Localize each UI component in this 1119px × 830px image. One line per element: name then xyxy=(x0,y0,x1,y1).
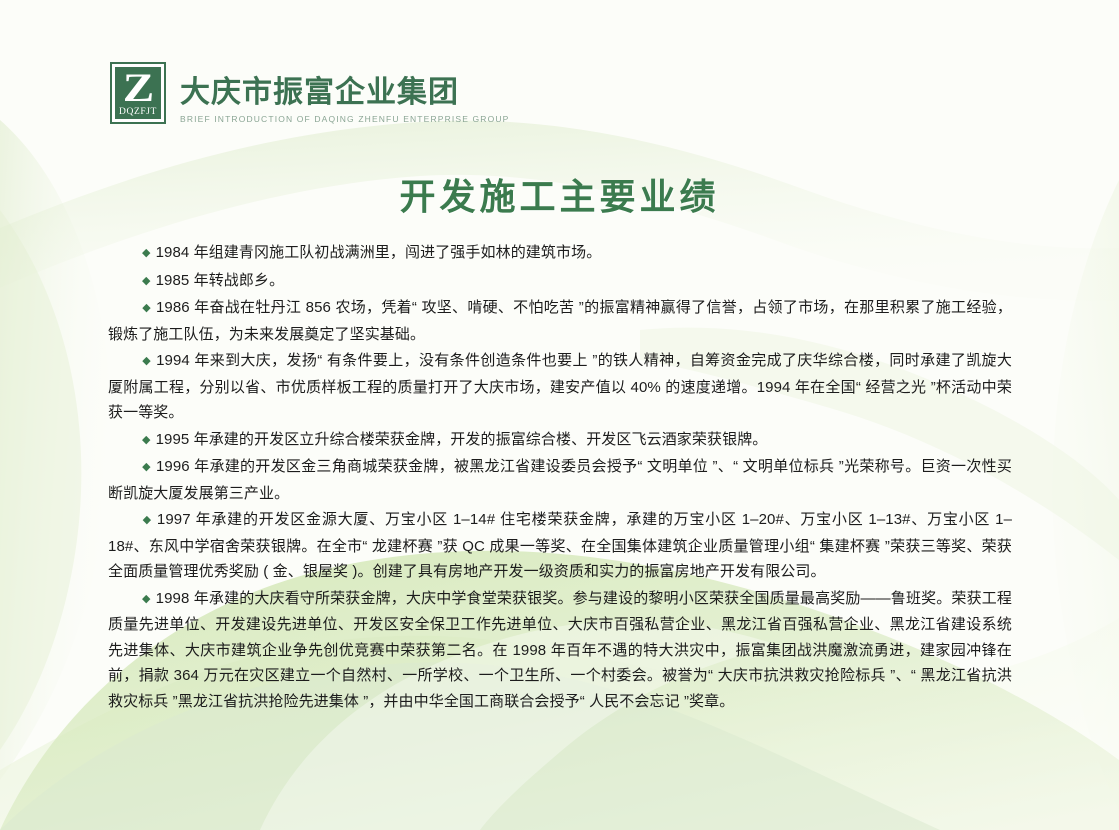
paragraph-text: 1998 年承建的大庆看守所荣获金牌，大庆中学食堂荣获银奖。参与建设的黎明小区荣… xyxy=(108,590,1012,710)
diamond-bullet-icon: ◆ xyxy=(142,355,151,367)
achievement-paragraph: ◆1998 年承建的大庆看守所荣获金牌，大庆中学食堂荣获银奖。参与建设的黎明小区… xyxy=(108,586,1012,715)
paragraph-text: 1997 年承建的开发区金源大厦、万宝小区 1–14# 住宅楼荣获金牌，承建的万… xyxy=(108,511,1012,580)
achievement-paragraph: ◆1995 年承建的开发区立升综合楼荣获金牌，开发的振富综合楼、开发区飞云酒家荣… xyxy=(108,427,1012,454)
diamond-bullet-icon: ◆ xyxy=(142,302,151,314)
paragraph-text: 1994 年来到大庆，发扬“ 有条件要上，没有条件创造条件也要上 ”的铁人精神，… xyxy=(108,352,1012,421)
diamond-bullet-icon: ◆ xyxy=(142,514,152,526)
achievement-paragraph: ◆1986 年奋战在牡丹江 856 农场，凭着“ 攻坚、啃硬、不怕吃苦 ”的振富… xyxy=(108,295,1012,347)
diamond-bullet-icon: ◆ xyxy=(142,593,151,605)
paragraph-text: 1984 年组建青冈施工队初战满洲里，闯进了强手如林的建筑市场。 xyxy=(156,244,602,261)
achievement-paragraph: ◆1985 年转战郎乡。 xyxy=(108,268,1012,295)
company-logo-icon: Z DQZFJT xyxy=(110,62,166,124)
achievement-paragraph: ◆1984 年组建青冈施工队初战满洲里，闯进了强手如林的建筑市场。 xyxy=(108,240,1012,267)
paragraph-text: 1986 年奋战在牡丹江 856 农场，凭着“ 攻坚、啃硬、不怕吃苦 ”的振富精… xyxy=(108,299,1012,343)
diamond-bullet-icon: ◆ xyxy=(142,434,151,446)
diamond-bullet-icon: ◆ xyxy=(142,275,151,287)
paragraph-text: 1996 年承建的开发区金三角商城荣获金牌，被黑龙江省建设委员会授予“ 文明单位… xyxy=(108,458,1012,502)
paragraph-text: 1985 年转战郎乡。 xyxy=(156,272,285,289)
logo-letter: Z xyxy=(123,69,153,107)
slide-page: Z DQZFJT 大庆市振富企业集团 BRIEF INTRODUCTION OF… xyxy=(0,0,1119,830)
diamond-bullet-icon: ◆ xyxy=(142,461,151,473)
diamond-bullet-icon: ◆ xyxy=(142,247,151,259)
content-body: ◆1984 年组建青冈施工队初战满洲里，闯进了强手如林的建筑市场。◆1985 年… xyxy=(108,240,1012,715)
brand-header: Z DQZFJT 大庆市振富企业集团 BRIEF INTRODUCTION OF… xyxy=(110,62,509,125)
achievement-paragraph: ◆1997 年承建的开发区金源大厦、万宝小区 1–14# 住宅楼荣获金牌，承建的… xyxy=(108,507,1012,585)
company-name: 大庆市振富企业集团 xyxy=(180,76,509,110)
paragraph-text: 1995 年承建的开发区立升综合楼荣获金牌，开发的振富综合楼、开发区飞云酒家荣获… xyxy=(156,431,768,448)
achievement-paragraph: ◆1996 年承建的开发区金三角商城荣获金牌，被黑龙江省建设委员会授予“ 文明单… xyxy=(108,454,1012,506)
brand-text-block: 大庆市振富企业集团 BRIEF INTRODUCTION OF DAQING Z… xyxy=(180,62,509,125)
achievement-paragraph: ◆1994 年来到大庆，发扬“ 有条件要上，没有条件创造条件也要上 ”的铁人精神… xyxy=(108,348,1012,426)
page-title: 开发施工主要业绩 xyxy=(0,168,1119,220)
company-name-english: BRIEF INTRODUCTION OF DAQING ZHENFU ENTE… xyxy=(180,113,509,125)
